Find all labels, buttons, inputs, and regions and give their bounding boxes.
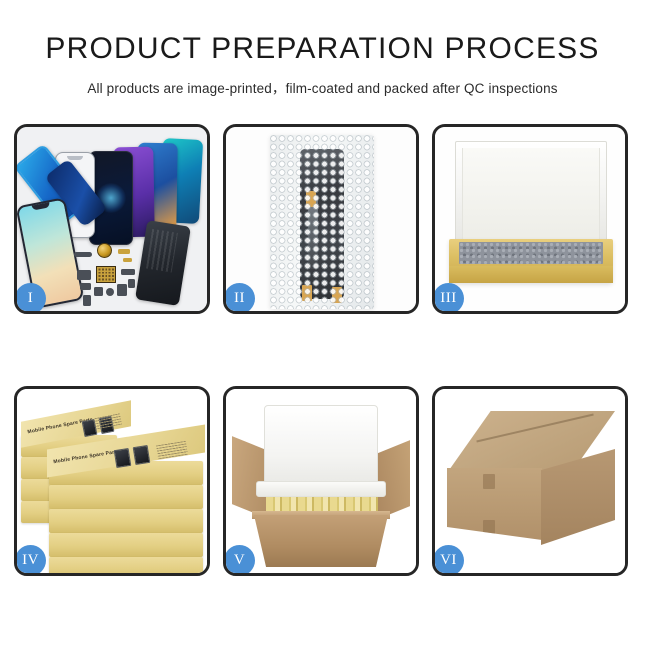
carton-flap-left	[232, 436, 266, 518]
product-preparation-infographic: PRODUCT PREPARATION PROCESS All products…	[0, 0, 645, 645]
stacked-box-front-2	[49, 485, 203, 509]
bubble-texture	[270, 135, 374, 309]
stacked-box-front-3	[49, 509, 203, 533]
grey-foam-padding	[459, 242, 603, 264]
part-module	[117, 284, 127, 296]
part-button	[106, 288, 114, 296]
white-box-lid	[455, 141, 607, 249]
part-strip	[74, 252, 92, 257]
part-bracket-2	[80, 283, 91, 290]
step-4-image: Mobile Phone Spare Parts Mobile Phone Sp…	[17, 389, 207, 573]
process-step-panel-5: V	[223, 386, 419, 576]
stacked-box-front-5	[49, 557, 203, 573]
step-3-image	[435, 127, 625, 311]
part-connector	[121, 269, 135, 275]
box-art-screen-front-1	[114, 448, 132, 468]
process-step-grid: I II I	[14, 124, 631, 579]
process-step-panel-2: II	[223, 124, 419, 314]
carton-tab-lower	[483, 520, 495, 535]
stacked-box-front-4	[49, 533, 203, 557]
step-badge-1: I	[15, 283, 46, 314]
step-badge-3: III	[433, 283, 464, 314]
speaker-component-icon	[97, 243, 112, 258]
box-art-screen-front-2	[133, 445, 151, 465]
carton-tab-upper	[483, 474, 495, 489]
step-badge-2: II	[224, 283, 255, 314]
step-badge-5: V	[224, 545, 255, 576]
carton-left-face	[447, 468, 542, 540]
process-step-panel-4: Mobile Phone Spare Parts Mobile Phone Sp…	[14, 386, 210, 576]
page-title: PRODUCT PREPARATION PROCESS	[0, 32, 645, 65]
header: PRODUCT PREPARATION PROCESS All products…	[0, 0, 645, 97]
part-bracket-1	[77, 270, 91, 280]
chip-component-icon	[96, 266, 116, 283]
process-step-panel-1: I	[14, 124, 210, 314]
part-flex-gold-2	[123, 258, 132, 262]
carton-flap-right	[376, 440, 410, 520]
step-6-image	[435, 389, 625, 573]
yellow-box-base	[449, 239, 613, 283]
box-front-face	[449, 266, 613, 283]
step-badge-4: IV	[15, 545, 46, 576]
carton-body	[254, 515, 388, 567]
bubble-wrap-package	[270, 135, 374, 309]
step-badge-6: VI	[433, 545, 464, 576]
step-1-image	[17, 127, 207, 311]
foam-box-lid	[264, 405, 378, 489]
foam-box-rim	[256, 481, 386, 497]
step-5-image	[226, 389, 416, 573]
box-stack: Mobile Phone Spare Parts Mobile Phone Sp…	[21, 399, 205, 571]
step-2-image	[226, 127, 416, 311]
process-step-panel-6: VI	[432, 386, 628, 576]
process-step-panel-3: III	[432, 124, 628, 314]
part-tray	[83, 295, 91, 306]
part-camera	[94, 287, 103, 296]
part-flex-gold-1	[118, 249, 130, 254]
part-small-chip	[128, 279, 135, 288]
page-subtitle: All products are image-printed，film-coat…	[0, 77, 645, 97]
